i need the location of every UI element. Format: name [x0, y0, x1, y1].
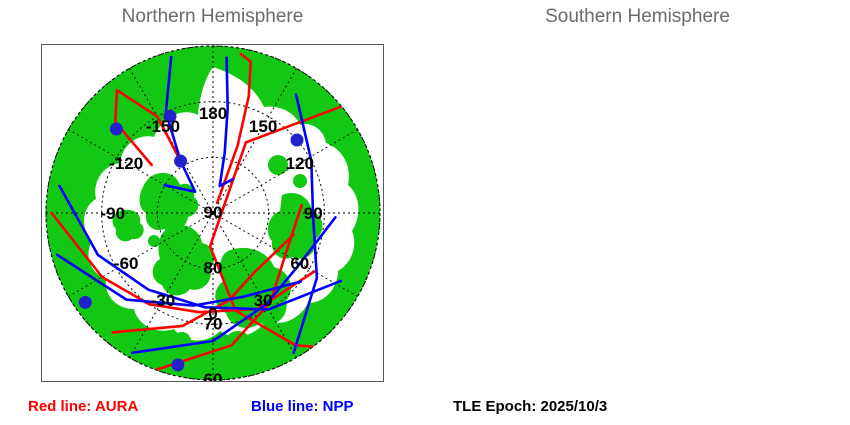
- svg-text:150: 150: [249, 117, 277, 136]
- svg-text:90: 90: [204, 203, 223, 222]
- north-polar-plot: 908070600306090120150180-150-120-90-60-3…: [42, 45, 383, 381]
- svg-text:30: 30: [254, 291, 273, 310]
- svg-text:60: 60: [204, 370, 223, 381]
- svg-text:120: 120: [286, 154, 314, 173]
- northern-hemisphere-panel: Northern Hemisphere 90807060030609012015…: [0, 0, 425, 425]
- southern-hemisphere-panel: Southern Hemisphere -90-80-70-6003060901…: [425, 0, 850, 425]
- legend-aura-label: Red line: AURA: [28, 398, 138, 415]
- svg-text:-30: -30: [151, 291, 176, 310]
- legend-tle-epoch: TLE Epoch: 2025/10/3: [453, 398, 607, 415]
- crossing-node-marker: [291, 134, 304, 147]
- svg-text:90: 90: [304, 204, 323, 223]
- svg-text:-120: -120: [109, 154, 143, 173]
- svg-text:-150: -150: [146, 117, 180, 136]
- north-plot-frame: 908070600306090120150180-150-120-90-60-3…: [41, 44, 384, 382]
- svg-text:80: 80: [204, 259, 223, 278]
- svg-text:180: 180: [199, 104, 227, 123]
- crossing-node-marker: [110, 123, 123, 136]
- svg-text:-90: -90: [101, 204, 126, 223]
- svg-text:60: 60: [290, 254, 309, 273]
- legend-npp-label: Blue line: NPP: [251, 398, 354, 415]
- north-panel-title: Northern Hemisphere: [0, 6, 425, 28]
- south-panel-title: Southern Hemisphere: [425, 6, 850, 28]
- svg-text:-60: -60: [114, 254, 139, 273]
- svg-text:0: 0: [208, 304, 217, 323]
- crossing-node-marker: [79, 296, 92, 309]
- crossing-node-marker: [174, 155, 187, 168]
- crossing-node-marker: [171, 358, 184, 371]
